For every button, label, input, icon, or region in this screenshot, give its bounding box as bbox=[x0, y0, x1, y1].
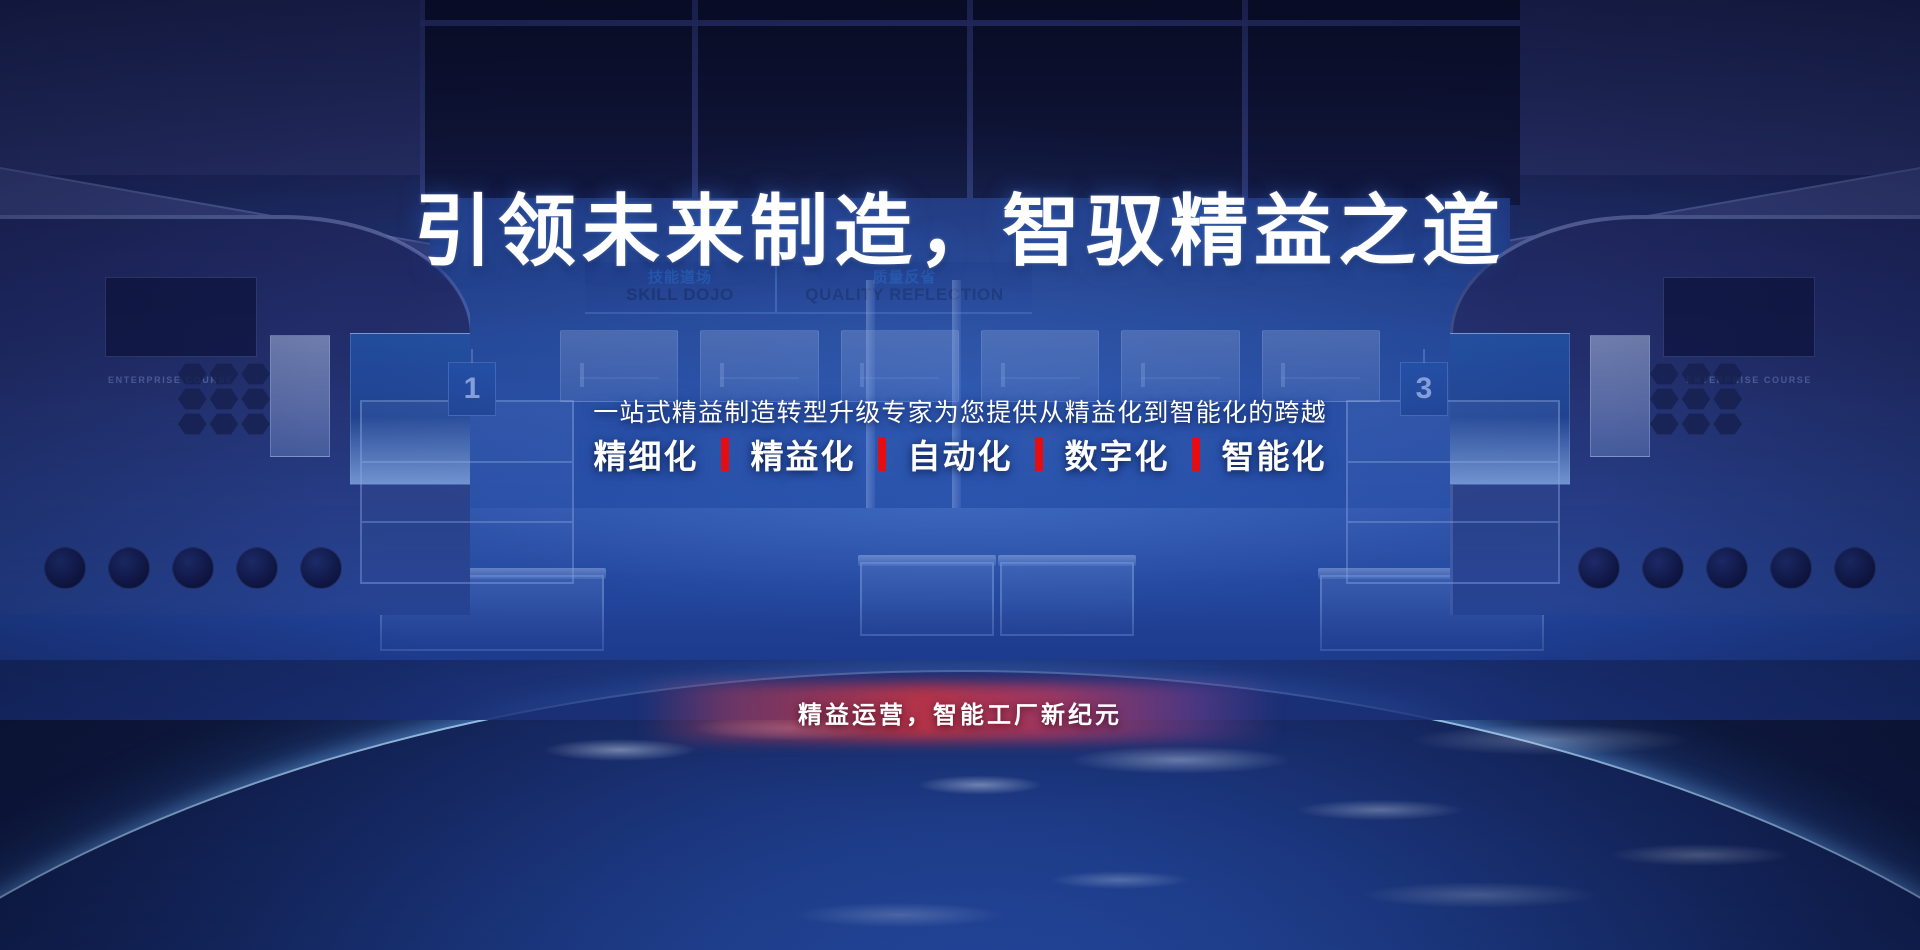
keyword-list: 精细化 精益化 自动化 数字化 智能化 bbox=[0, 430, 1920, 478]
keyword-divider bbox=[1035, 437, 1043, 471]
hero-banner: 技能道场 SKILL DOJO 质量反省 QUALITY REFLECTION bbox=[0, 0, 1920, 950]
tagline-text: 精益运营，智能工厂新纪元 bbox=[798, 695, 1122, 730]
tagline-ribbon: 精益运营，智能工厂新纪元 bbox=[680, 683, 1240, 741]
keyword-divider bbox=[1192, 437, 1200, 471]
keyword-divider bbox=[721, 437, 729, 471]
keyword-item: 数字化 bbox=[1065, 430, 1170, 478]
banner-subtitle: 一站式精益制造转型升级专家为您提供从精益化到智能化的跨越 bbox=[0, 393, 1920, 429]
keyword-item: 自动化 bbox=[908, 430, 1013, 478]
banner-content: 引领未来制造，智驭精益之道 一站式精益制造转型升级专家为您提供从精益化到智能化的… bbox=[0, 0, 1920, 950]
page-title: 引领未来制造，智驭精益之道 bbox=[0, 192, 1920, 270]
keyword-item: 精细化 bbox=[594, 430, 699, 478]
keyword-divider bbox=[878, 437, 886, 471]
keyword-item: 精益化 bbox=[751, 430, 856, 478]
keyword-item: 智能化 bbox=[1222, 430, 1327, 478]
